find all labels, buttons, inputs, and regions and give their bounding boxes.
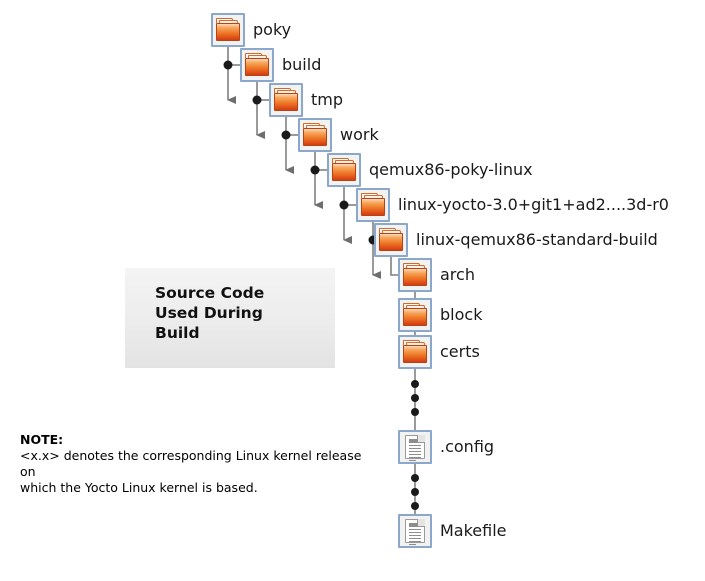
folder-icon[interactable]: [374, 223, 408, 257]
node-stdbuild[interactable]: [374, 223, 408, 257]
file-glyph: [400, 432, 430, 462]
folder-glyph: [329, 155, 359, 185]
folder-icon[interactable]: [211, 13, 245, 47]
file-icon[interactable]: [398, 514, 432, 548]
folder-glyph: [271, 85, 301, 115]
diagram-canvas: Source Code Used During Build NOTE: <x.x…: [0, 0, 705, 581]
node-label-linuxyocto: linux-yocto-3.0+git1+ad2....3d-r0: [398, 197, 669, 213]
node-label-stdbuild: linux-qemux86-standard-build: [416, 232, 658, 248]
node-config[interactable]: [398, 430, 432, 464]
folder-icon[interactable]: [356, 188, 390, 222]
node-label-poky: poky: [253, 22, 291, 38]
node-label-work: work: [340, 127, 379, 143]
folder-glyph: [400, 300, 430, 330]
folder-glyph: [358, 190, 388, 220]
folder-icon[interactable]: [398, 258, 432, 292]
node-makefile[interactable]: [398, 514, 432, 548]
note-body: <x.x> denotes the corresponding Linux ke…: [20, 448, 380, 496]
node-label-qemux86: qemux86-poky-linux: [369, 162, 533, 178]
folder-glyph: [242, 50, 272, 80]
folder-icon[interactable]: [298, 118, 332, 152]
node-label-tmp: tmp: [311, 92, 343, 108]
note-heading: NOTE:: [20, 432, 380, 448]
folder-icon[interactable]: [327, 153, 361, 187]
node-label-block: block: [440, 307, 482, 323]
folder-glyph: [400, 337, 430, 367]
file-glyph: [400, 516, 430, 546]
file-icon[interactable]: [398, 430, 432, 464]
folder-glyph: [213, 15, 243, 45]
folder-icon[interactable]: [398, 298, 432, 332]
node-linuxyocto[interactable]: [356, 188, 390, 222]
node-arch[interactable]: [398, 258, 432, 292]
node-poky[interactable]: [211, 13, 245, 47]
folder-icon[interactable]: [240, 48, 274, 82]
node-label-arch: arch: [440, 267, 475, 283]
node-work[interactable]: [298, 118, 332, 152]
folder-icon[interactable]: [269, 83, 303, 117]
folder-glyph: [376, 225, 406, 255]
node-certs[interactable]: [398, 335, 432, 369]
node-label-build: build: [282, 57, 321, 73]
callout-text: Source Code Used During Build: [155, 283, 264, 343]
node-label-makefile: Makefile: [440, 523, 507, 539]
node-qemux86[interactable]: [327, 153, 361, 187]
node-block[interactable]: [398, 298, 432, 332]
node-tmp[interactable]: [269, 83, 303, 117]
folder-glyph: [300, 120, 330, 150]
folder-glyph: [400, 260, 430, 290]
source-code-callout-box: Source Code Used During Build: [125, 268, 335, 368]
note-block: NOTE: <x.x> denotes the corresponding Li…: [20, 432, 380, 496]
folder-icon[interactable]: [398, 335, 432, 369]
node-label-certs: certs: [440, 344, 480, 360]
node-label-config: .config: [440, 439, 494, 455]
node-build[interactable]: [240, 48, 274, 82]
